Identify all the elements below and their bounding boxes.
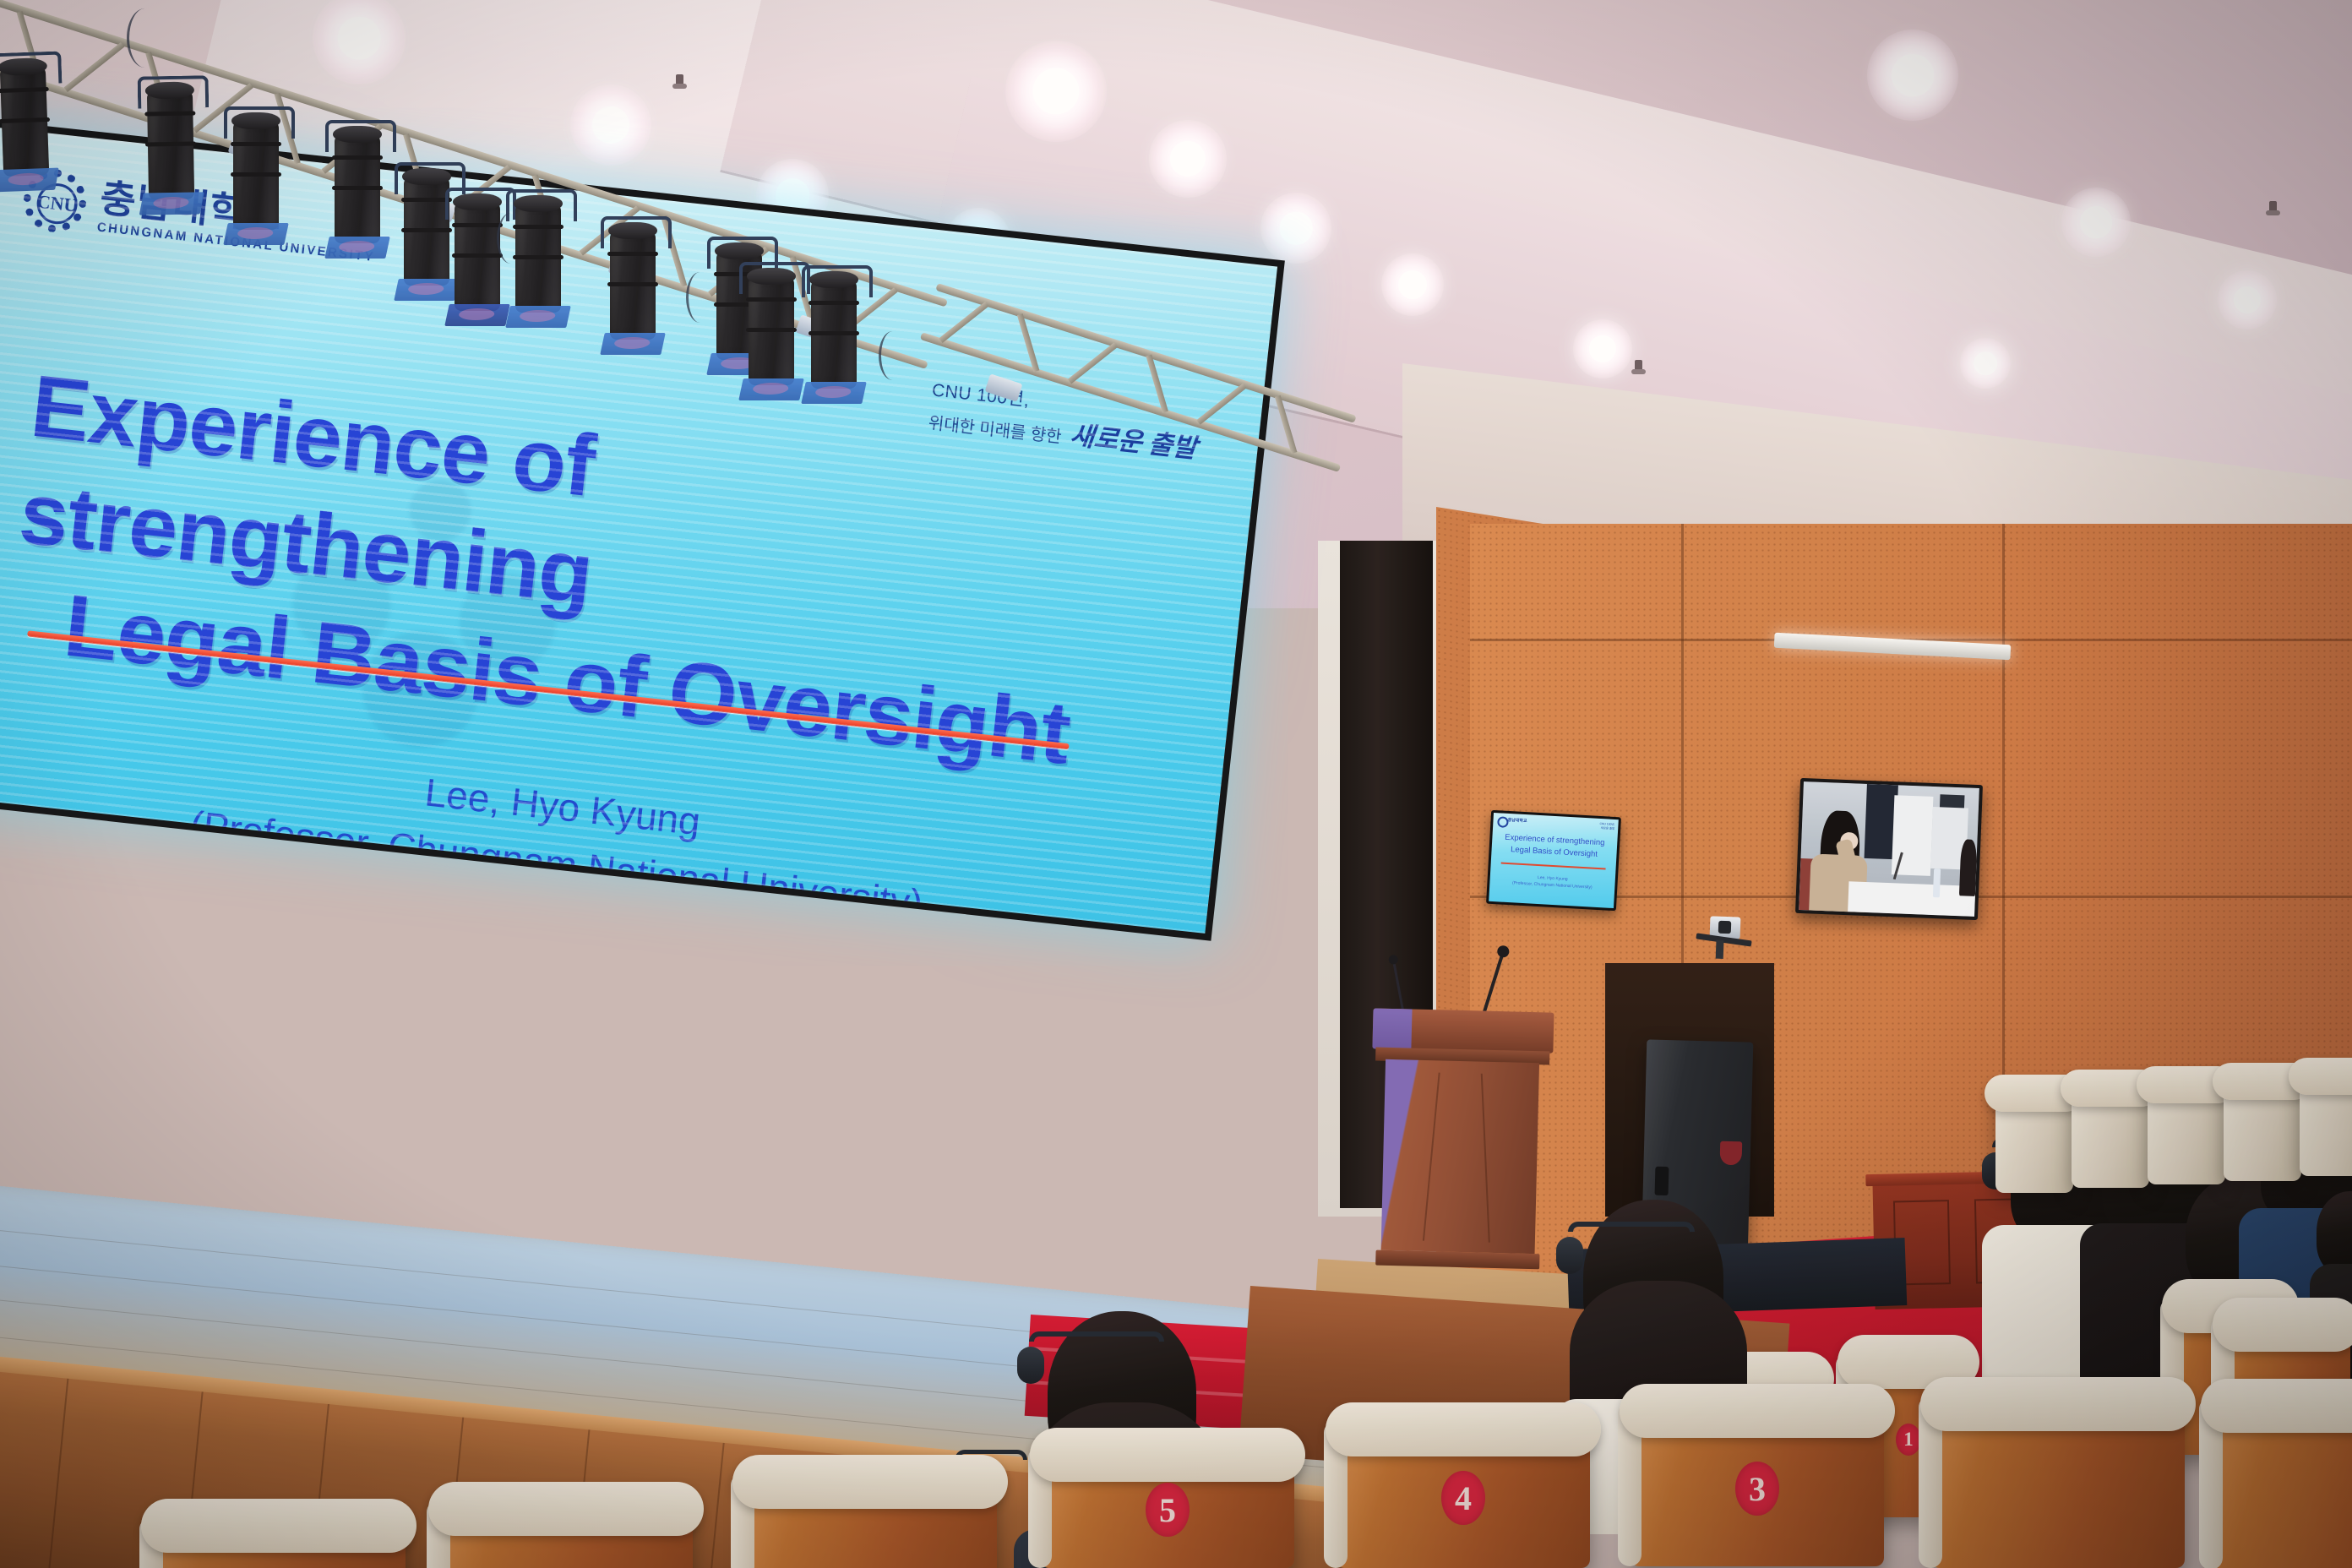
headphones-icon: [1568, 1222, 1695, 1294]
stage-light-par-can: [455, 201, 500, 311]
stage-light-par-can: [233, 120, 279, 230]
lectern-podium: [1380, 1009, 1540, 1257]
monitor-cnu-logo-icon: 충남대학교: [1497, 816, 1534, 825]
auditorium-photo: CNU 충남대학교 CHUNGNAM NATIONAL UNIVERSITY C…: [0, 0, 2352, 1568]
monitor-slogan: CNU 100년, 새로운 출발: [1599, 822, 1615, 831]
seat-number-badge: 3: [1735, 1462, 1779, 1516]
ceiling-downlight: [1867, 30, 1958, 121]
stage-light-par-can: [811, 279, 857, 389]
empty-seat[interactable]: [2148, 1075, 2225, 1184]
sprinkler-head: [2269, 201, 2277, 215]
seat-front-right[interactable]: [1931, 1391, 2185, 1568]
monitor-logo-label: 충남대학교: [1507, 817, 1527, 824]
ceiling-downlight: [1573, 319, 1632, 378]
empty-seat[interactable]: [2072, 1078, 2149, 1188]
light-cable: [127, 8, 163, 68]
ceiling-downlight: [570, 84, 651, 166]
sprinkler-head: [676, 74, 683, 88]
empty-seat[interactable]: [2224, 1071, 2301, 1181]
seat-number-badge: 5: [1146, 1483, 1190, 1537]
stage-confidence-monitor: 충남대학교 CNU 100년, 새로운 출발 Experience of str…: [1486, 810, 1621, 911]
light-cable: [879, 331, 906, 380]
stage-light-par-can: [0, 65, 49, 177]
stage-light-par-can: [610, 230, 656, 340]
stage-light-par-can: [147, 90, 194, 200]
ceiling-downlight: [1149, 120, 1227, 198]
ceiling-downlight: [2218, 270, 2277, 329]
empty-seat[interactable]: [1995, 1083, 2073, 1193]
ceiling-downlight: [2061, 188, 2131, 257]
stage-light-par-can: [404, 176, 449, 286]
sprinkler-head: [1635, 360, 1642, 373]
light-cable: [686, 272, 714, 323]
seat-front-far-right[interactable]: [2212, 1392, 2352, 1568]
stage-light-par-can: [515, 203, 561, 313]
camera-lens-icon: [1718, 921, 1732, 934]
empty-seat[interactable]: [2300, 1066, 2352, 1176]
seat-front-edge-left[interactable]: [152, 1512, 406, 1568]
seat-3[interactable]: 3: [1631, 1397, 1884, 1566]
seat-front-left[interactable]: [743, 1468, 997, 1568]
seat-number-badge: 1: [1896, 1424, 1921, 1456]
video-camera: [1710, 916, 1741, 939]
stage-light-par-can: [749, 275, 794, 385]
ceiling-downlight: [1005, 41, 1107, 142]
slogan-line2: 위대한 미래를 향한: [927, 412, 1062, 449]
headphones-icon: [1029, 1331, 1164, 1409]
seat-number-badge: 4: [1441, 1471, 1485, 1525]
stage-light-par-can: [335, 133, 380, 243]
live-video-feed-monitor: [1795, 778, 1983, 920]
seat-4[interactable]: 4: [1337, 1416, 1590, 1568]
light-cable: [497, 213, 525, 264]
ceiling-downlight: [1260, 193, 1331, 264]
ceiling-downlight: [1960, 338, 2011, 389]
ceiling-downlight: [1381, 253, 1444, 316]
seat-front-far-left[interactable]: [439, 1495, 693, 1568]
seat-5[interactable]: 5: [1041, 1441, 1294, 1568]
